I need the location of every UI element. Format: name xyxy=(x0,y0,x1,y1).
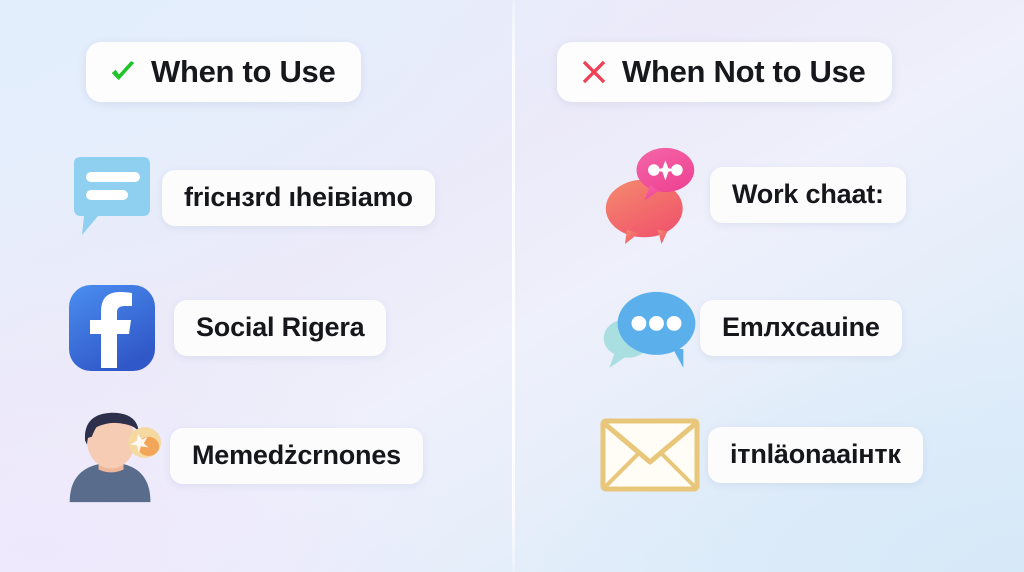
list-item-label: Work chaat: xyxy=(710,167,906,222)
header-when-to-use-label: When to Use xyxy=(151,56,335,87)
list-item-label: Emлxcauine xyxy=(700,300,902,355)
infographic-canvas: When to Use friснзrd ıheiвiamo xyxy=(0,0,1024,572)
blue-dots-bubble-icon xyxy=(600,278,700,378)
blue-speech-bubble-icon xyxy=(62,148,162,248)
list-item: Memedżcrnones xyxy=(62,406,423,506)
list-item-label: Social Rigera xyxy=(174,300,386,355)
header-when-not-to-use: When Not to Use xyxy=(557,42,892,102)
red-cross-icon xyxy=(579,57,609,87)
list-item-label: Memedżcrnones xyxy=(170,428,423,483)
green-check-icon xyxy=(108,57,138,87)
list-item: iтnläоnaaiнтк xyxy=(600,405,923,505)
column-when-not-to-use: When Not to Use xyxy=(512,0,1024,572)
list-item-label: friснзrd ıheiвiamo xyxy=(162,170,435,225)
header-when-to-use: When to Use xyxy=(86,42,361,102)
list-item: Emлxcauine xyxy=(600,278,902,378)
header-when-not-to-use-label: When Not to Use xyxy=(622,56,866,87)
list-item: Social Rigera xyxy=(62,278,386,378)
list-item-label: iтnläоnaaiнтк xyxy=(708,427,923,482)
list-item: friснзrd ıheiвiamo xyxy=(62,148,435,248)
person-avatar-icon xyxy=(62,406,162,506)
pink-coral-bubbles-icon xyxy=(600,145,700,245)
envelope-icon xyxy=(600,405,700,505)
column-when-to-use: When to Use friснзrd ıheiвiamo xyxy=(0,0,512,572)
facebook-icon xyxy=(62,278,162,378)
list-item: Work chaat: xyxy=(600,145,906,245)
